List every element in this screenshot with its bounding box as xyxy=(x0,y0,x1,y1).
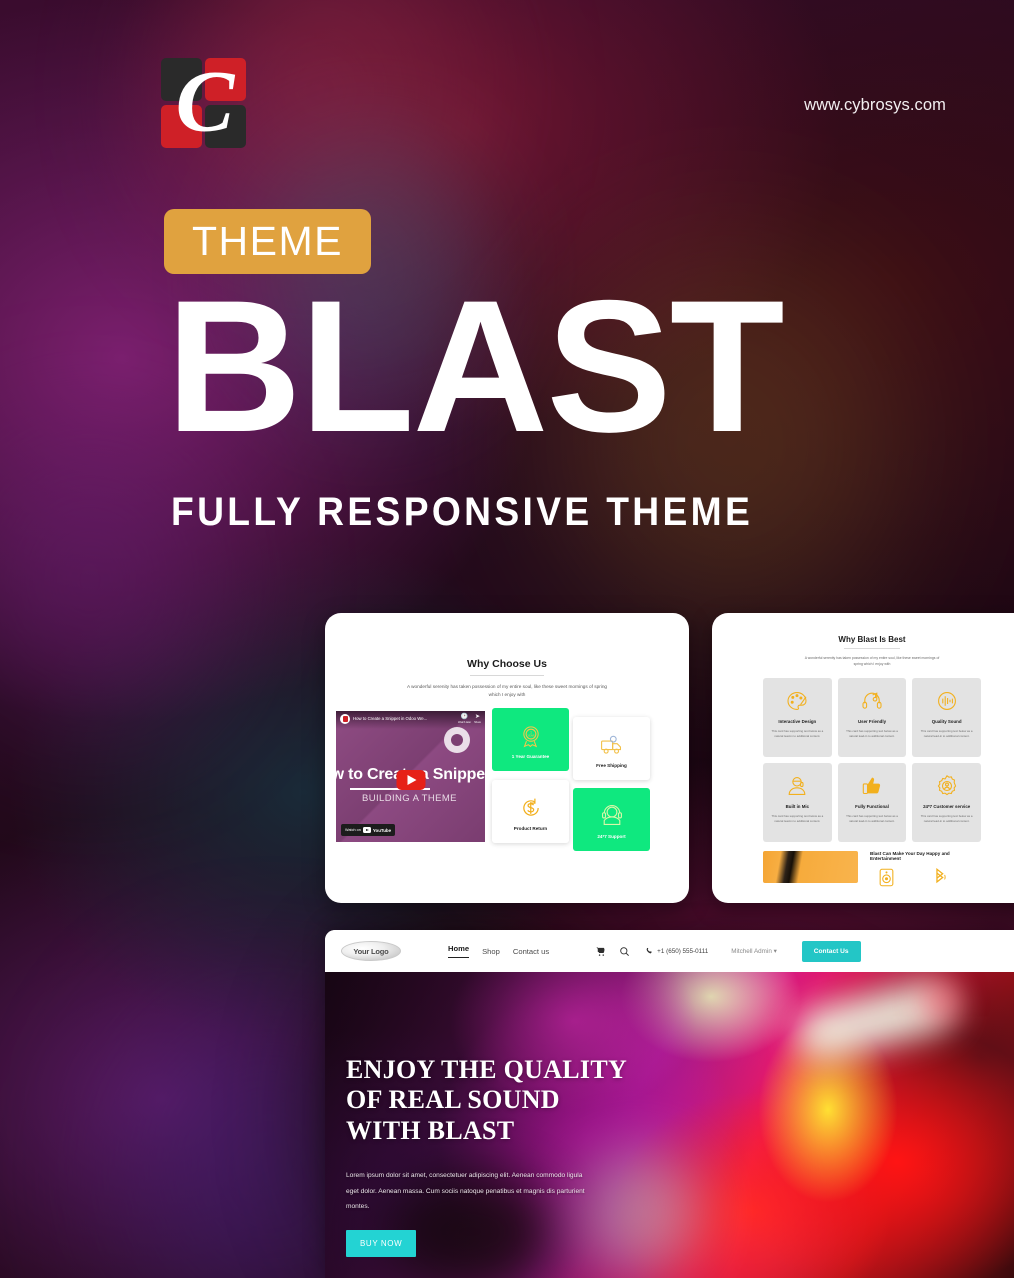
phone-icon xyxy=(645,947,653,955)
nav-link-shop[interactable]: Shop xyxy=(482,947,500,956)
nav-links: Home Shop Contact us xyxy=(448,944,549,958)
feature-tile-guarantee[interactable]: 1 YEAR 1 Year Guarantee xyxy=(492,708,569,771)
nav-user-menu[interactable]: Mitchell Admin ▾ xyxy=(731,948,777,955)
benefit-card[interactable]: Quality Sound This card has supporting t… xyxy=(912,678,981,757)
benefit-card-body: This card has supporting text below as a… xyxy=(919,814,974,825)
benefit-card-title: Quality Sound xyxy=(932,719,962,724)
youtube-video-embed[interactable]: How to Create a Snippet in Odoo We... 🕑 … xyxy=(336,711,485,842)
nav-user-name: Mitchell Admin xyxy=(731,948,772,955)
entertainment-banner: Blast Can Make Your Day Happy and Entert… xyxy=(712,842,1014,887)
benefit-card-body: This card has supporting text below as a… xyxy=(845,729,900,740)
feature-tile-grid: 1 YEAR 1 Year Guarantee Free Shipping xyxy=(492,711,650,842)
title-divider xyxy=(470,675,544,676)
youtube-video-title: How to Create a Snippet in Odoo We... xyxy=(353,716,455,721)
share-label: Share xyxy=(474,721,481,724)
video-overlay-subheading: BUILDING A THEME xyxy=(362,793,457,804)
paint-palette-icon xyxy=(785,689,809,713)
benefit-card[interactable]: User Friendly This card has supporting t… xyxy=(838,678,907,757)
youtube-top-bar: How to Create a Snippet in Odoo We... 🕑 … xyxy=(336,711,485,729)
share-button[interactable]: ➤ Share xyxy=(474,714,481,724)
benefit-card-body: This card has supporting text below as a… xyxy=(770,729,825,740)
nav-actions: +1 (650) 555-0111 Mitchell Admin ▾ Conta… xyxy=(595,941,860,962)
youtube-platform-label: YouTube xyxy=(373,828,391,833)
feature-tile-label: 24*7 Support xyxy=(597,834,625,839)
page-subtitle: FULLY RESPONSIVE THEME xyxy=(171,492,753,532)
benefit-card-title: 24*7 Customer service xyxy=(923,804,970,809)
nav-link-home[interactable]: Home xyxy=(448,944,469,958)
why-choose-us-description: A wonderful serenity has taken possessio… xyxy=(325,683,689,699)
page-title: BLAST xyxy=(166,272,783,460)
site-navbar: Your Logo Home Shop Contact us +1 (650) … xyxy=(325,930,1014,972)
speaker-icon xyxy=(878,868,895,887)
feature-tile-label: Free Shipping xyxy=(596,763,627,768)
why-choose-us-title: Why Choose Us xyxy=(325,658,689,670)
benefit-card-title: Interactive Design xyxy=(778,719,816,724)
benefit-card-body: This card has supporting text below as a… xyxy=(919,729,974,740)
hero-heading-line-1: ENJOY THE QUALITY xyxy=(346,1055,627,1085)
benefit-card[interactable]: Fully Functional This card has supportin… xyxy=(838,763,907,842)
logo-letter: C xyxy=(176,58,235,146)
site-hero: ENJOY THE QUALITY OF REAL SOUND WITH BLA… xyxy=(325,972,1014,1278)
youtube-play-icon xyxy=(363,827,371,833)
website-url: www.cybrosys.com xyxy=(804,96,946,115)
benefit-card[interactable]: 24*7 Customer service This card has supp… xyxy=(912,763,981,842)
benefit-card[interactable]: Interactive Design This card has support… xyxy=(763,678,832,757)
benefit-card-body: This card has supporting text below as a… xyxy=(770,814,825,825)
feature-tile-label: Product Return xyxy=(514,826,547,831)
benefit-card-title: User Friendly xyxy=(858,719,886,724)
buy-now-button[interactable]: BUY NOW xyxy=(346,1230,416,1257)
hero-heading-line-3: WITH BLAST xyxy=(346,1116,627,1146)
watch-on-label: Watch on xyxy=(345,828,361,832)
guarantee-badge-icon: 1 YEAR xyxy=(518,723,544,749)
gear-support-icon xyxy=(935,774,959,798)
person-mic-icon xyxy=(785,774,809,798)
nav-link-contact-us[interactable]: Contact us xyxy=(513,947,549,956)
feature-tile-shipping[interactable]: Free Shipping xyxy=(573,717,650,780)
nav-contact-us-button[interactable]: Contact Us xyxy=(802,941,861,962)
banner-text-column: Blast Can Make Your Day Happy and Entert… xyxy=(870,851,981,887)
hero-paragraph: Lorem ipsum dolor sit amet, consectetuer… xyxy=(346,1168,591,1214)
benefit-card-grid: Interactive Design This card has support… xyxy=(712,668,1014,842)
watch-on-youtube-badge[interactable]: Watch on YouTube xyxy=(341,824,395,836)
why-blast-is-best-description: A wonderful serenity has taken possessio… xyxy=(712,655,1014,668)
hero-heading-line-2: OF REAL SOUND xyxy=(346,1085,627,1115)
feature-tile-return[interactable]: Product Return xyxy=(492,780,569,843)
feature-tile-label: 1 Year Guarantee xyxy=(512,754,549,759)
banner-icon-row xyxy=(870,868,981,887)
feature-tile-support[interactable]: 24*7 Support xyxy=(573,788,650,851)
delivery-truck-icon xyxy=(599,732,625,758)
hero-text-block: ENJOY THE QUALITY OF REAL SOUND WITH BLA… xyxy=(346,1055,627,1257)
share-icon: ➤ xyxy=(474,714,481,720)
thumbs-up-icon xyxy=(860,774,884,798)
site-logo[interactable]: Your Logo xyxy=(341,941,401,961)
screenshot-card-why-blast-is-best: Why Blast Is Best A wonderful serenity h… xyxy=(712,613,1014,903)
cybrosys-logo: C xyxy=(161,58,249,152)
why-choose-us-body: How to Create a Snippet in Odoo We... 🕑 … xyxy=(325,711,689,842)
benefit-card-body: This card has supporting text below as a… xyxy=(845,814,900,825)
nav-phone-number: +1 (650) 555-0111 xyxy=(657,948,708,955)
theme-badge-label: THEME xyxy=(192,218,343,265)
youtube-channel-avatar-icon xyxy=(340,714,350,724)
shopping-cart-icon[interactable] xyxy=(595,946,606,957)
svg-text:1: 1 xyxy=(530,730,532,734)
benefit-card-title: Built in Mic xyxy=(786,804,809,809)
search-icon[interactable] xyxy=(619,946,630,957)
youtube-play-button-icon[interactable] xyxy=(396,770,425,790)
clock-icon: 🕑 xyxy=(458,714,471,720)
benefit-card-title: Fully Functional xyxy=(855,804,889,809)
website-mockup: Your Logo Home Shop Contact us +1 (650) … xyxy=(325,930,1014,1278)
headphones-icon xyxy=(860,689,884,713)
why-blast-is-best-title: Why Blast Is Best xyxy=(712,635,1014,644)
nav-phone[interactable]: +1 (650) 555-0111 xyxy=(645,947,708,955)
screenshot-card-why-choose-us: Why Choose Us A wonderful serenity has t… xyxy=(325,613,689,903)
video-highlight-circle xyxy=(444,727,470,753)
title-divider xyxy=(844,648,900,649)
banner-product-image xyxy=(763,851,858,883)
bluetooth-icon xyxy=(931,868,948,887)
svg-text:YEAR: YEAR xyxy=(527,734,534,738)
sound-wave-icon xyxy=(935,689,959,713)
benefit-card[interactable]: Built in Mic This card has supporting te… xyxy=(763,763,832,842)
headset-support-icon xyxy=(599,803,625,829)
banner-heading: Blast Can Make Your Day Happy and Entert… xyxy=(870,851,981,861)
watch-later-label: Watch later xyxy=(458,721,471,724)
chevron-down-icon: ▾ xyxy=(774,948,777,955)
watch-later-button[interactable]: 🕑 Watch later xyxy=(458,714,471,724)
refund-dollar-icon xyxy=(518,795,544,821)
site-logo-text: Your Logo xyxy=(353,947,388,956)
